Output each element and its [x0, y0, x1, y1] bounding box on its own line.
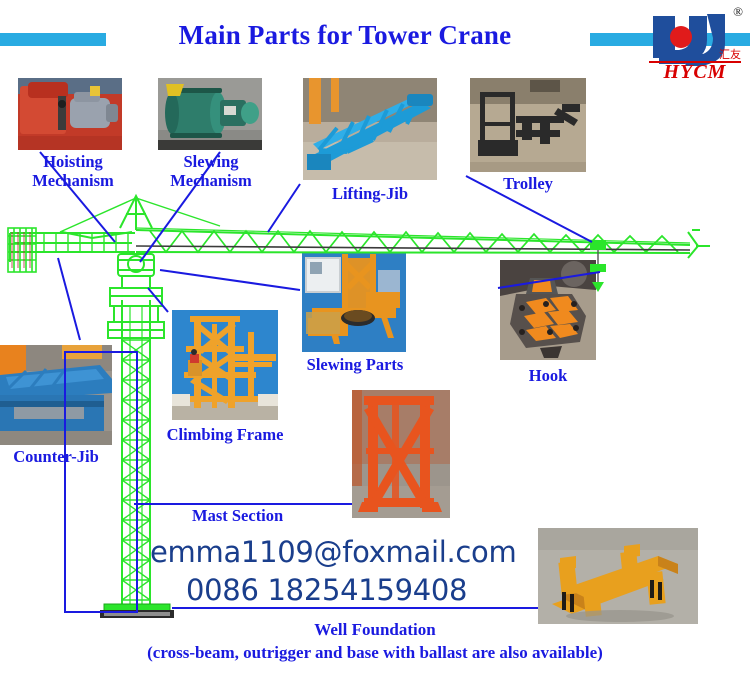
jib-tip [688, 230, 710, 258]
label-counter-jib: Counter-Jib [0, 447, 112, 466]
footer-well-foundation: Well Foundation [0, 620, 750, 640]
contact-phone[interactable]: 0086 18254159408 [186, 573, 586, 607]
label-trolley: Trolley [470, 174, 586, 193]
mast-section-highlight [64, 351, 138, 613]
callout-slewing-parts [160, 270, 300, 290]
label-slewing-parts: Slewing Parts [296, 355, 414, 374]
contact-email[interactable]: emma1109@foxmail.com [150, 535, 550, 569]
label-climbing-frame: Climbing Frame [155, 425, 295, 444]
lifting-jib-structure [136, 228, 690, 253]
footer-note: (cross-beam, outrigger and base with bal… [0, 643, 750, 663]
callout-counter-jib [58, 258, 80, 340]
poster-canvas: Main Parts for Tower Crane ® 汇友 HYCM [0, 0, 750, 690]
label-hoisting-mechanism: Hoisting Mechanism [18, 152, 128, 190]
callout-hook [498, 272, 600, 288]
label-slewing-mechanism: Slewing Mechanism [156, 152, 266, 190]
callout-lifting-jib [268, 184, 300, 232]
label-lifting-jib: Lifting-Jib [303, 184, 437, 203]
trolley-on-jib [590, 240, 606, 292]
label-hook: Hook [500, 366, 596, 385]
label-mast-section: Mast Section [192, 506, 283, 525]
tower-head [60, 196, 220, 232]
